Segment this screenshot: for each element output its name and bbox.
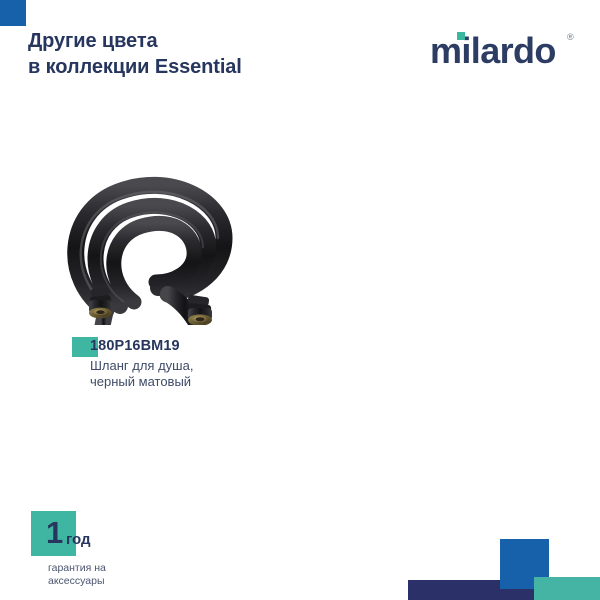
product-description: Шланг для душа, черный матовый bbox=[90, 358, 302, 390]
square-dot-icon bbox=[457, 32, 465, 40]
registered-trademark-icon: ® bbox=[567, 33, 574, 42]
hose-fitting-right bbox=[187, 294, 212, 325]
page-title: Другие цвета в коллекции Essential bbox=[28, 28, 358, 81]
warranty-caption: гарантия на аксессуары bbox=[48, 562, 158, 588]
product-sku: 180P16BM19 bbox=[90, 337, 302, 356]
product-image bbox=[46, 160, 266, 325]
warranty-value: 1 bbox=[46, 514, 63, 552]
product-caption: 180P16BM19 Шланг для душа, черный матовы… bbox=[72, 337, 302, 390]
brand-logo: milardo ® bbox=[430, 29, 580, 73]
decor-square-top-left bbox=[0, 0, 26, 26]
warranty-unit: год bbox=[66, 530, 91, 549]
decor-square-bottom-teal bbox=[534, 577, 600, 600]
brand-wordmark: milardo bbox=[430, 29, 556, 73]
hose-fitting-left bbox=[89, 287, 112, 318]
product-card: Другие цвета в коллекции Essential milar… bbox=[0, 0, 600, 600]
